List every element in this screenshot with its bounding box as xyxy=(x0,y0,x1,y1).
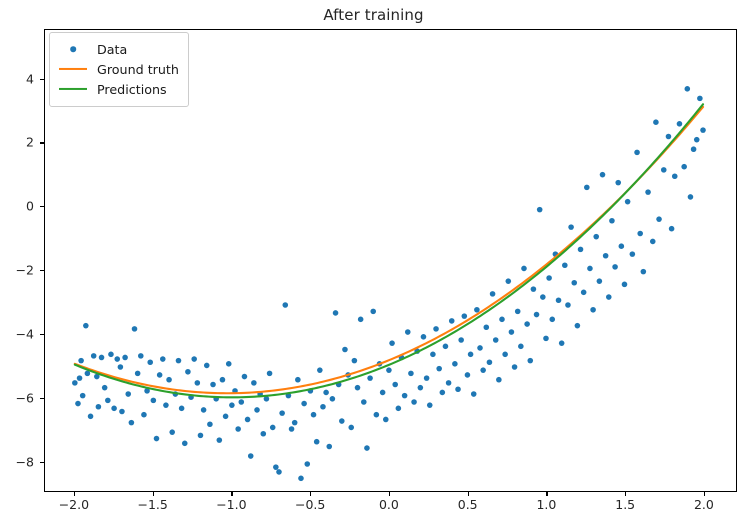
data-point xyxy=(490,291,496,297)
data-point xyxy=(677,121,683,127)
y-tick-label: 2 xyxy=(0,135,34,150)
data-point xyxy=(625,199,631,205)
data-point xyxy=(430,352,436,358)
data-point xyxy=(685,86,691,92)
data-point xyxy=(348,425,354,431)
data-point xyxy=(185,369,191,375)
data-point xyxy=(645,189,651,195)
data-point xyxy=(622,282,628,288)
dot-icon xyxy=(70,46,76,52)
y-tick-mark xyxy=(40,462,44,463)
data-point xyxy=(468,352,474,358)
data-point xyxy=(169,429,175,435)
data-point xyxy=(201,407,207,413)
data-point xyxy=(198,433,204,439)
data-point xyxy=(226,361,232,367)
data-point xyxy=(383,417,389,423)
data-point xyxy=(358,317,364,323)
x-tick-mark xyxy=(74,492,75,496)
data-point xyxy=(697,96,703,102)
data-point xyxy=(666,134,672,140)
data-point xyxy=(584,185,590,191)
data-point xyxy=(484,324,490,330)
x-tick-mark xyxy=(153,492,154,496)
data-point xyxy=(465,372,471,378)
data-point xyxy=(223,413,229,419)
data-point xyxy=(427,402,433,408)
legend-label: Ground truth xyxy=(97,62,179,77)
data-point xyxy=(132,326,138,332)
data-point xyxy=(304,461,310,467)
data-point xyxy=(575,323,581,329)
data-point xyxy=(267,371,273,377)
x-tick-label: 0.5 xyxy=(458,497,478,512)
data-point xyxy=(102,385,108,391)
data-point xyxy=(424,375,430,381)
y-tick-mark xyxy=(40,334,44,335)
data-point xyxy=(392,382,398,388)
y-tick-mark xyxy=(40,142,44,143)
data-point xyxy=(108,352,114,358)
data-point xyxy=(650,239,656,245)
data-point xyxy=(408,371,414,377)
data-point xyxy=(326,444,332,450)
data-point xyxy=(549,317,555,323)
data-point xyxy=(386,367,392,373)
data-point xyxy=(119,409,125,415)
data-point xyxy=(91,353,97,359)
data-point xyxy=(543,336,549,342)
x-tick-mark xyxy=(704,492,705,496)
data-point xyxy=(361,399,367,405)
data-point xyxy=(606,294,612,300)
data-point xyxy=(499,317,505,323)
data-point xyxy=(619,243,625,249)
data-point xyxy=(147,359,153,365)
data-point xyxy=(521,266,527,272)
x-tick-label: 1.0 xyxy=(536,497,556,512)
data-point xyxy=(389,340,395,346)
data-point xyxy=(603,253,609,259)
data-point xyxy=(571,280,577,286)
legend: DataGround truthPredictions xyxy=(49,32,189,107)
data-point xyxy=(289,426,295,432)
data-point xyxy=(242,374,248,380)
data-point xyxy=(317,367,323,373)
data-point xyxy=(342,347,348,353)
data-point xyxy=(440,390,446,396)
data-point xyxy=(496,377,502,383)
data-point xyxy=(125,391,131,397)
line-series-predictions xyxy=(75,104,703,397)
data-point xyxy=(433,326,439,332)
legend-item-predictions: Predictions xyxy=(58,79,179,99)
data-point xyxy=(681,164,687,170)
data-point xyxy=(160,356,166,362)
data-point xyxy=(370,309,376,315)
data-point xyxy=(179,406,185,412)
data-point xyxy=(418,385,424,391)
data-point xyxy=(129,420,135,426)
data-point xyxy=(581,290,587,296)
data-point xyxy=(691,146,697,152)
data-point xyxy=(352,358,358,364)
data-point xyxy=(270,425,276,431)
y-tick-mark xyxy=(40,398,44,399)
data-point xyxy=(487,359,493,365)
data-point xyxy=(235,426,241,432)
data-point xyxy=(694,137,700,143)
y-tick-label: −6 xyxy=(0,390,34,405)
data-point xyxy=(220,377,226,383)
x-tick-label: −2.0 xyxy=(59,497,89,512)
data-point xyxy=(587,266,593,272)
data-point xyxy=(672,173,678,179)
data-point xyxy=(207,421,213,427)
data-point xyxy=(411,399,417,405)
data-point xyxy=(245,417,251,423)
data-point xyxy=(72,380,78,386)
data-point xyxy=(182,441,188,447)
line-icon xyxy=(59,68,87,70)
data-point xyxy=(493,337,499,343)
x-tick-label: 1.5 xyxy=(615,497,635,512)
y-tick-label: −8 xyxy=(0,454,34,469)
legend-label: Predictions xyxy=(97,82,167,97)
data-point xyxy=(600,172,606,178)
data-point xyxy=(295,377,301,383)
data-point xyxy=(534,312,540,318)
data-point xyxy=(248,453,254,459)
x-tick-label: −1.0 xyxy=(216,497,246,512)
x-tick-label: 2.0 xyxy=(694,497,714,512)
data-point xyxy=(254,407,260,413)
x-tick-mark xyxy=(546,492,547,496)
data-point xyxy=(612,264,618,270)
data-point xyxy=(474,307,480,313)
x-tick-mark xyxy=(625,492,626,496)
data-point xyxy=(320,404,326,410)
data-point xyxy=(531,286,537,292)
y-tick-label: −2 xyxy=(0,263,34,278)
x-tick-label: −1.5 xyxy=(138,497,168,512)
data-point xyxy=(630,251,636,257)
data-point xyxy=(515,309,521,315)
legend-line-icon xyxy=(58,82,88,96)
data-point xyxy=(78,358,84,364)
data-point xyxy=(157,372,163,378)
data-point xyxy=(364,445,370,451)
data-point xyxy=(396,406,402,412)
data-point xyxy=(462,313,468,319)
data-point xyxy=(273,464,279,470)
data-point xyxy=(559,340,565,346)
legend-label: Data xyxy=(97,42,127,57)
y-tick-label: −4 xyxy=(0,326,34,341)
data-point xyxy=(111,406,117,412)
data-point xyxy=(505,278,511,284)
data-point xyxy=(239,399,245,405)
data-point xyxy=(163,402,169,408)
y-tick-label: 4 xyxy=(0,71,34,86)
legend-marker-icon xyxy=(58,42,88,56)
data-point xyxy=(477,345,483,351)
data-point xyxy=(593,234,599,240)
data-point xyxy=(443,344,449,350)
data-point xyxy=(512,364,518,370)
data-point xyxy=(314,439,320,445)
data-point xyxy=(96,404,102,410)
page-title: After training xyxy=(0,6,747,24)
y-tick-mark xyxy=(40,79,44,80)
data-point xyxy=(135,371,141,377)
data-point xyxy=(99,355,105,361)
data-point xyxy=(537,207,543,213)
data-point xyxy=(141,412,147,418)
data-point xyxy=(229,402,235,408)
data-point xyxy=(77,375,83,381)
data-point xyxy=(210,382,216,388)
data-point xyxy=(556,297,562,303)
data-point xyxy=(446,380,452,386)
data-point xyxy=(80,393,86,399)
x-tick-mark xyxy=(389,492,390,496)
data-point xyxy=(637,231,643,237)
data-point xyxy=(700,127,706,133)
legend-line-icon xyxy=(58,62,88,76)
data-point xyxy=(118,364,124,370)
data-point xyxy=(195,380,201,386)
data-point xyxy=(191,356,197,362)
line-series-ground-truth xyxy=(75,107,703,393)
data-point xyxy=(421,334,427,340)
x-tick-label: −0.5 xyxy=(295,497,325,512)
data-point xyxy=(122,355,128,361)
data-point xyxy=(509,329,515,335)
data-point xyxy=(260,431,266,437)
x-tick-mark xyxy=(468,492,469,496)
data-point xyxy=(518,344,524,350)
y-tick-mark xyxy=(40,270,44,271)
data-point xyxy=(311,412,317,418)
data-point xyxy=(524,321,530,327)
legend-item-data: Data xyxy=(58,39,179,59)
x-tick-mark xyxy=(310,492,311,496)
data-point xyxy=(653,119,659,125)
data-point xyxy=(154,436,160,442)
data-point xyxy=(661,167,667,173)
data-point xyxy=(527,358,533,364)
data-point xyxy=(455,386,461,392)
data-point xyxy=(688,194,694,200)
data-point xyxy=(292,420,298,426)
data-point xyxy=(540,294,546,300)
data-point xyxy=(471,391,477,397)
data-point xyxy=(458,337,464,343)
data-point xyxy=(609,218,615,224)
data-point xyxy=(449,318,455,324)
data-point xyxy=(480,367,486,373)
x-tick-mark xyxy=(231,492,232,496)
data-point xyxy=(656,216,662,222)
data-point xyxy=(333,310,339,316)
data-point xyxy=(251,380,257,386)
data-point xyxy=(279,410,285,416)
data-point xyxy=(330,396,336,402)
data-point xyxy=(374,412,380,418)
data-point xyxy=(367,375,373,381)
data-point xyxy=(151,398,157,404)
data-point xyxy=(380,390,386,396)
data-point xyxy=(502,352,508,358)
data-point xyxy=(166,377,172,383)
data-point xyxy=(204,363,210,369)
data-point xyxy=(452,361,458,367)
data-point xyxy=(105,398,111,404)
data-point xyxy=(282,302,288,308)
data-point xyxy=(355,385,361,391)
data-point xyxy=(578,247,584,253)
data-point xyxy=(217,437,223,443)
data-point xyxy=(568,224,574,230)
data-point xyxy=(138,353,144,359)
data-point xyxy=(88,413,94,419)
data-point xyxy=(339,418,345,424)
data-point xyxy=(546,275,552,281)
data-point xyxy=(405,329,411,335)
data-point xyxy=(634,150,640,156)
data-point xyxy=(301,401,307,407)
data-point xyxy=(436,366,442,372)
line-icon xyxy=(59,88,87,90)
data-point xyxy=(83,323,89,329)
data-point xyxy=(298,475,304,481)
y-tick-label: 0 xyxy=(0,199,34,214)
data-point xyxy=(565,302,571,308)
data-point xyxy=(176,358,182,364)
y-tick-mark xyxy=(40,206,44,207)
data-point xyxy=(276,469,282,475)
data-point xyxy=(669,226,675,232)
x-tick-label: 0.0 xyxy=(379,497,399,512)
matplotlib-figure: After training 420−2−4−6−8 −2.0−1.5−1.0−… xyxy=(0,0,747,528)
data-point xyxy=(562,262,568,268)
data-point xyxy=(75,401,81,407)
legend-item-ground-truth: Ground truth xyxy=(58,59,179,79)
data-point xyxy=(615,180,621,186)
scatter-series-data xyxy=(72,86,706,481)
data-point xyxy=(597,278,603,284)
data-point xyxy=(641,269,647,275)
data-point xyxy=(323,390,329,396)
data-point xyxy=(114,356,120,362)
data-point xyxy=(590,307,596,313)
data-point xyxy=(402,393,408,399)
